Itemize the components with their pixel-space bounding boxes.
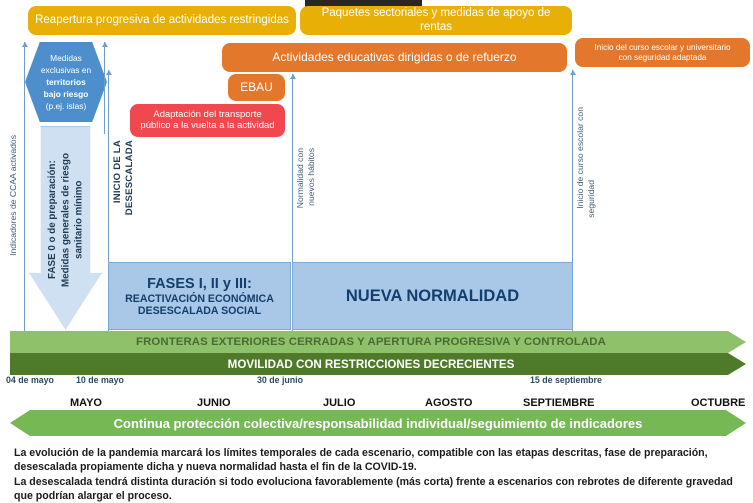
- callout-medidas-exclusivas: Medidas exclusivas en territorios bajo r…: [25, 42, 107, 122]
- phase-block-fases: FASES I, II y III: REACTIVACIÓN ECONÓMIC…: [108, 262, 291, 330]
- phase-fases-line2: REACTIVACIÓN ECONÓMICA: [125, 293, 274, 305]
- box-reapertura-progresiva[interactable]: Reapertura progresiva de actividades res…: [28, 6, 296, 35]
- infographic-root: Reapertura progresiva de actividades res…: [0, 0, 753, 503]
- bar-movilidad: MOVILIDAD CON RESTRICCIONES DECRECIENTES: [10, 353, 746, 375]
- box-paquetes-sectoriales[interactable]: Paquetes sectoriales y medidas de apoyo …: [300, 6, 572, 35]
- box-inicio-curso-line1: Inicio del curso escolar y universitario: [594, 43, 730, 52]
- bar-fronteras-exteriores: FRONTERAS EXTERIORES CERRADAS Y APERTURA…: [10, 331, 746, 353]
- callout-line2: exclusivas en: [41, 64, 91, 76]
- box-transporte-line1: Adaptación del transporte: [140, 110, 274, 121]
- label-normalidad-line1: Normalidad con: [295, 148, 306, 208]
- callout-line1: Medidas: [41, 52, 91, 64]
- label-inicio-desescalada-line1: INICIO DE LA: [112, 140, 124, 203]
- callout-line5: (p.ej. islas): [41, 100, 91, 112]
- box-adaptacion-transporte[interactable]: Adaptación del transporte público a la v…: [130, 104, 285, 137]
- box-transporte-line2: público a la vuelta a la actividad: [140, 121, 274, 132]
- footnote: La evolución de la pandemia marcará los …: [14, 446, 740, 503]
- footnote-paragraph-1: La evolución de la pandemia marcará los …: [14, 446, 740, 475]
- date-30-junio: 30 de junio: [257, 375, 303, 385]
- label-indicadores-ccaa: Indicadores de CCAA activados: [8, 135, 19, 256]
- callout-line4: bajo riesgo: [41, 88, 91, 100]
- fase0-line2: Medidas generales de riesgo: [60, 153, 71, 287]
- date-04-mayo: 04 de mayo: [6, 375, 54, 385]
- label-inicio-desescalada-line2: DESESCALADA: [124, 140, 136, 215]
- fase0-line1: FASE 0 o de preparación:: [47, 161, 58, 280]
- box-ebau[interactable]: EBAU: [228, 74, 285, 101]
- date-10-mayo: 10 de mayo: [76, 375, 124, 385]
- arrow-fase-0: FASE 0 o de preparación: Medidas general…: [29, 126, 102, 330]
- fase0-line3: sanitario mínimo: [73, 181, 84, 259]
- bar-continua-proteccion: Continua protección colectiva/responsabi…: [10, 410, 746, 436]
- phase-nueva-line1: NUEVA NORMALIDAD: [346, 287, 519, 306]
- vertical-arrow-indicadores: [24, 42, 25, 336]
- label-normalidad-line2: nuevos hábitos: [306, 148, 317, 206]
- label-inicio-curso-line1: Inicio de curso escolar con: [575, 107, 586, 209]
- phase-fases-line1: FASES I, II y III:: [147, 276, 252, 292]
- label-inicio-curso-line2: seguridad: [586, 180, 597, 218]
- date-15-septiembre: 15 de septiembre: [530, 375, 602, 385]
- box-actividades-educativas[interactable]: Actividades educativas dirigidas o de re…: [222, 43, 567, 72]
- bar-fronteras-label: FRONTERAS EXTERIORES CERRADAS Y APERTURA…: [10, 331, 746, 353]
- bar-movilidad-label: MOVILIDAD CON RESTRICCIONES DECRECIENTES: [10, 353, 746, 375]
- box-inicio-curso-escolar[interactable]: Inicio del curso escolar y universitario…: [575, 38, 750, 67]
- callout-line3: territorios: [41, 76, 91, 88]
- footnote-paragraph-2: La desescalada tendrá distinta duración …: [14, 475, 740, 503]
- phase-fases-line3: DESESCALADA SOCIAL: [138, 305, 261, 317]
- vertical-arrow-hexagon-right: [104, 42, 105, 134]
- bar-continua-label: Continua protección colectiva/responsabi…: [10, 410, 746, 436]
- phase-block-nueva-normalidad: NUEVA NORMALIDAD: [292, 262, 573, 330]
- box-inicio-curso-line2: con seguridad adaptada: [594, 53, 730, 62]
